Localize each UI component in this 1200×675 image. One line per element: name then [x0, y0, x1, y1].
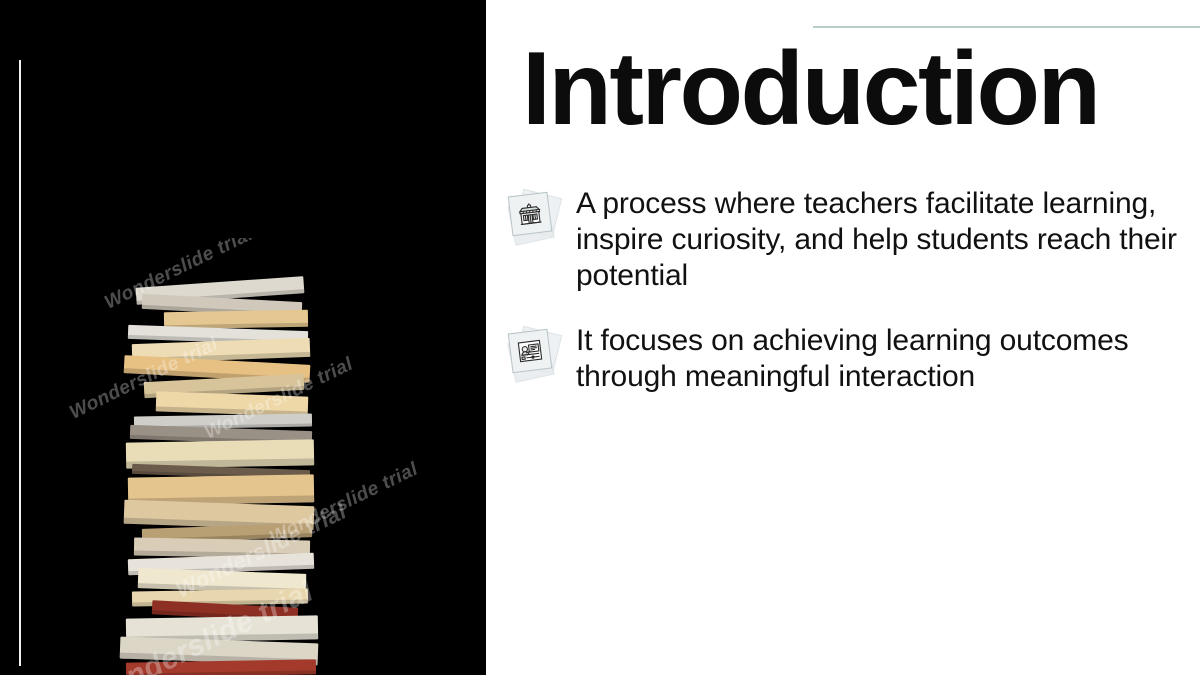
list-item: It focuses on achieving learning outcome…: [506, 323, 1186, 395]
vertical-accent-rule: [19, 60, 21, 666]
list-item-text: A process where teachers facilitate lear…: [576, 186, 1186, 294]
bullet-icon-stack: [506, 190, 562, 246]
page-title: Introduction: [522, 36, 1182, 142]
online-lesson-icon: [508, 329, 553, 374]
list-item-text: It focuses on achieving learning outcome…: [576, 323, 1186, 395]
school-building-icon: [508, 192, 553, 237]
media-panel: Wonderslide trial Wonderslide trial Wond…: [0, 0, 486, 675]
title-accent-rule: [813, 26, 1200, 28]
slide: Wonderslide trial Wonderslide trial Wond…: [0, 0, 1200, 675]
content-panel: Introduction: [486, 0, 1200, 675]
list-item: A process where teachers facilitate lear…: [506, 186, 1186, 294]
bullet-icon-stack: [506, 327, 562, 383]
bullet-list: A process where teachers facilitate lear…: [506, 186, 1186, 424]
book-stack-image: Wonderslide trial Wonderslide trial Wond…: [118, 278, 328, 675]
